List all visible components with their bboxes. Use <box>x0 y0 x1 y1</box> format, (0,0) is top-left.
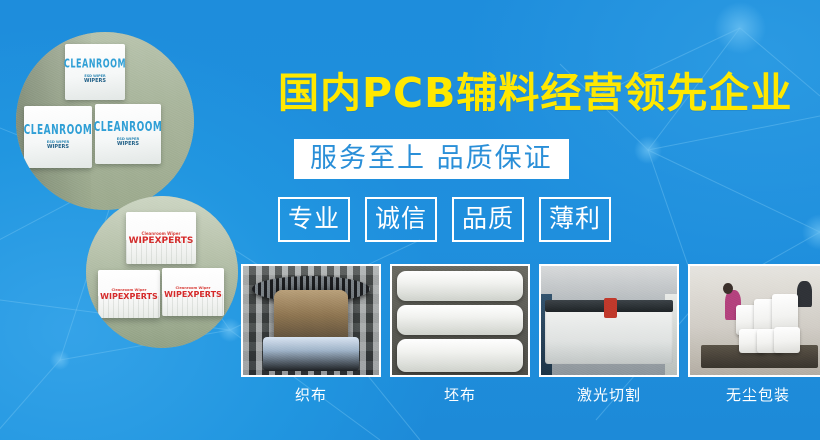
process-photo-knitting-machine <box>241 264 381 377</box>
package-line3: WIPERS <box>117 141 139 147</box>
feature-tag-pinzhi[interactable]: 品质 <box>452 197 524 242</box>
feature-tag-zhuanye[interactable]: 专业 <box>278 197 350 242</box>
process-item-cleanroom-packing[interactable]: 无尘包装 <box>688 264 820 405</box>
process-caption: 无尘包装 <box>688 384 820 405</box>
process-item-laser-cutting[interactable]: 激光切割 <box>539 264 679 405</box>
package-line3: WIPERS <box>47 144 69 150</box>
process-photo-strip: 织布 坯布 <box>241 264 820 405</box>
process-item-greige-fabric[interactable]: 坯布 <box>390 264 530 405</box>
process-caption: 坯布 <box>390 384 530 405</box>
feature-tag-chengxin[interactable]: 诚信 <box>365 197 437 242</box>
product-package: Cleanroom Wiper WIPEXPERTS <box>162 268 224 316</box>
feature-tag-list: 专业 诚信 品质 薄利 <box>278 197 611 242</box>
feature-tag-baoli[interactable]: 薄利 <box>539 197 611 242</box>
process-photo-fabric-rolls <box>390 264 530 377</box>
process-caption: 织布 <box>241 384 381 405</box>
product-photo-wipexperts: Cleanroom Wiper WIPEXPERTS Cleanroom Wip… <box>86 196 238 348</box>
product-package: Cleanroom Wiper WIPEXPERTS <box>98 270 160 318</box>
process-caption: 激光切割 <box>539 384 679 405</box>
product-package: CLEANROOM ESD WIPER WIPERS <box>95 104 161 164</box>
package-brand: CLEANROOM <box>64 58 126 72</box>
banner-subtitle: 服务至上 品质保证 <box>310 145 553 172</box>
process-photo-laser-cutter <box>539 264 679 377</box>
product-package: Cleanroom Wiper WIPEXPERTS <box>126 212 196 264</box>
package-brand: CLEANROOM <box>24 123 93 138</box>
process-item-weaving[interactable]: 织布 <box>241 264 381 405</box>
banner-headline: 国内PCB辅料经营领先企业 <box>278 73 792 114</box>
process-photo-packing <box>688 264 820 377</box>
promo-banner: CLEANROOM ESD WIPER WIPERS CLEANROOM ESD… <box>0 0 820 440</box>
banner-subtitle-bar: 服务至上 品质保证 <box>294 139 569 179</box>
product-package: CLEANROOM ESD WIPER WIPERS <box>65 44 125 100</box>
package-brand: CLEANROOM <box>94 120 163 135</box>
product-package: CLEANROOM ESD WIPER WIPERS <box>24 106 92 168</box>
product-photo-cleanroom-wipes: CLEANROOM ESD WIPER WIPERS CLEANROOM ESD… <box>16 32 194 210</box>
package-line3: WIPERS <box>84 78 106 84</box>
